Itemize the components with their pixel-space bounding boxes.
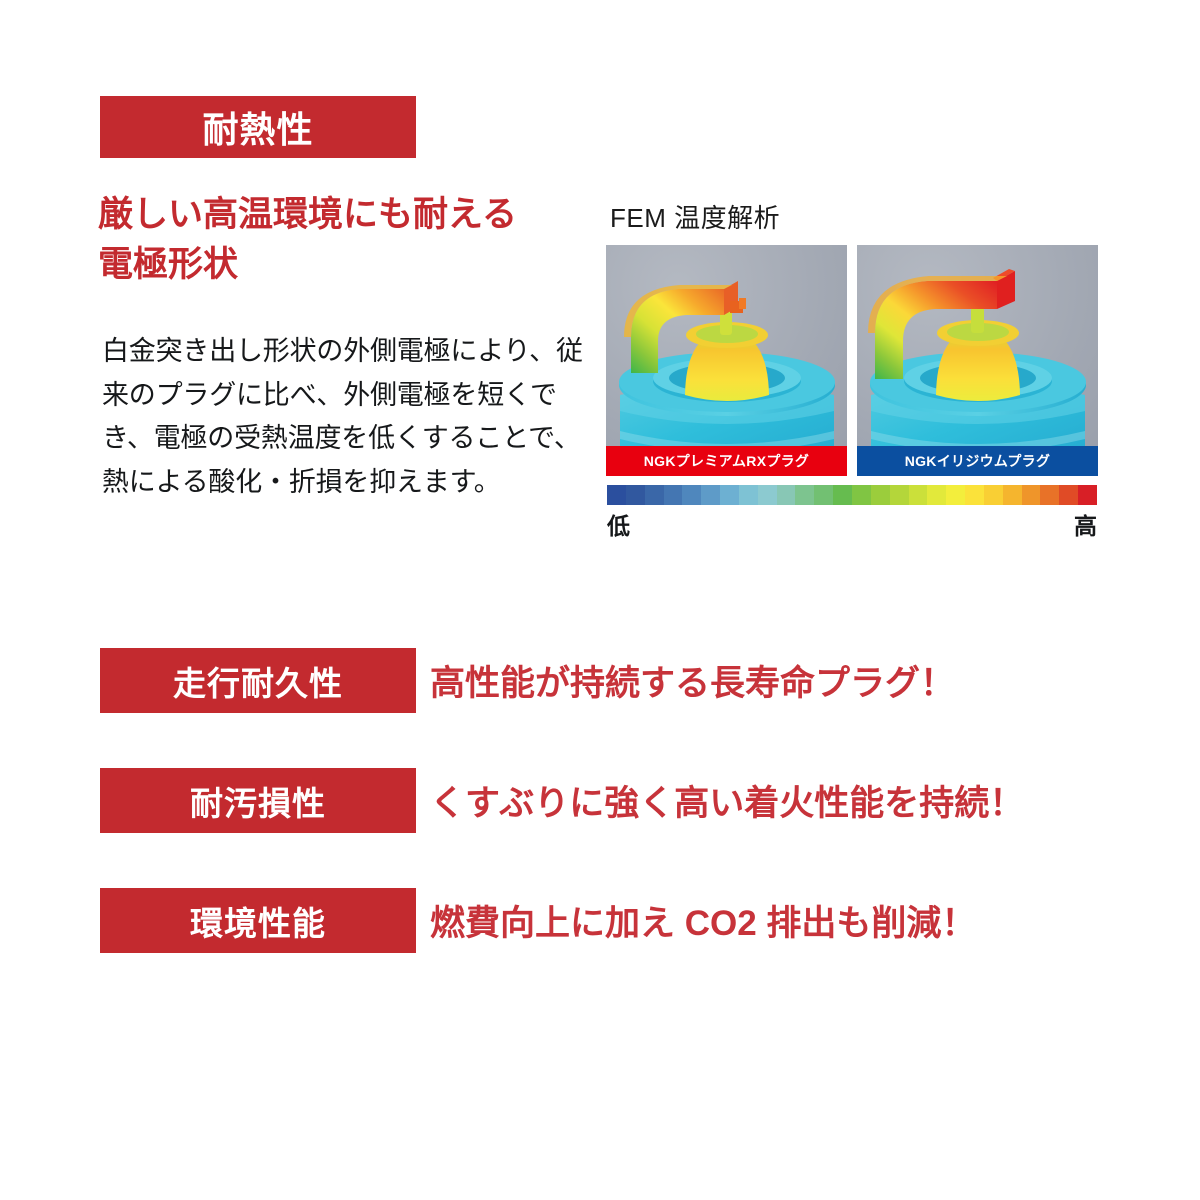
scale-swatch-20 — [984, 485, 1003, 505]
fem-panel-caption-iridium: NGKイリジウムプラグ — [857, 446, 1098, 476]
feature-row-environmental: 環境性能 燃費向上に加え CO2 排出も削減！ — [0, 880, 1200, 1000]
feature-text-environmental: 燃費向上に加え CO2 排出も削減！ — [430, 888, 976, 953]
scale-swatch-23 — [1040, 485, 1059, 505]
scale-swatch-14 — [871, 485, 890, 505]
spark-plug-thermal-render-rx — [606, 245, 847, 476]
temperature-color-scale — [607, 485, 1097, 505]
scale-label-low: 低 — [607, 507, 630, 541]
fem-panel-iridium: NGKイリジウムプラグ — [857, 245, 1098, 476]
feature-badge-durability: 走行耐久性 — [100, 648, 416, 713]
section-badge-heat-resistance: 耐熱性 — [100, 96, 416, 158]
fem-analysis-block: FEM 温度解析 — [606, 198, 1098, 541]
scale-swatch-10 — [795, 485, 814, 505]
scale-swatch-0 — [607, 485, 626, 505]
scale-swatch-4 — [682, 485, 701, 505]
scale-swatch-11 — [814, 485, 833, 505]
scale-swatch-24 — [1059, 485, 1078, 505]
body-copy: 白金突き出し形状の外側電極により、従来のプラグに比べ、外側電極を短くでき、電極の… — [102, 330, 590, 505]
scale-swatch-9 — [777, 485, 796, 505]
fem-panel-caption-premium-rx: NGKプレミアムRXプラグ — [606, 446, 847, 476]
scale-swatch-2 — [645, 485, 664, 505]
scale-swatch-8 — [758, 485, 777, 505]
feature-list: 走行耐久性 高性能が持続する長寿命プラグ！ 耐汚損性 くすぶりに強く高い着火性能… — [0, 640, 1200, 1000]
scale-swatch-18 — [946, 485, 965, 505]
lead-heading-line-2: 電極形状 — [98, 240, 598, 290]
fem-panel-group: NGKプレミアムRXプラグ — [606, 245, 1098, 476]
scale-swatch-22 — [1022, 485, 1041, 505]
feature-text-durability: 高性能が持続する長寿命プラグ！ — [430, 648, 955, 713]
scale-swatch-3 — [664, 485, 683, 505]
scale-swatch-25 — [1078, 485, 1097, 505]
lead-heading: 厳しい高温環境にも耐える 電極形状 — [98, 190, 598, 289]
lead-heading-line-1: 厳しい高温環境にも耐える — [98, 190, 598, 240]
feature-row-durability: 走行耐久性 高性能が持続する長寿命プラグ！ — [0, 640, 1200, 760]
heat-resistance-section: 耐熱性 厳しい高温環境にも耐える 電極形状 白金突き出し形状の外側電極により、従… — [0, 0, 1200, 600]
feature-text-fouling-resistance: くすぶりに強く高い着火性能を持続！ — [430, 768, 1024, 833]
scale-swatch-7 — [739, 485, 758, 505]
scale-swatch-19 — [965, 485, 984, 505]
scale-swatch-13 — [852, 485, 871, 505]
fem-title: FEM 温度解析 — [610, 198, 1098, 235]
scale-swatch-5 — [701, 485, 720, 505]
spark-plug-thermal-render-iridium — [857, 245, 1098, 476]
scale-swatch-15 — [890, 485, 909, 505]
fem-panel-premium-rx: NGKプレミアムRXプラグ — [606, 245, 847, 476]
scale-label-high: 高 — [1074, 507, 1097, 541]
temperature-scale-labels: 低 高 — [607, 507, 1097, 541]
scale-swatch-1 — [626, 485, 645, 505]
scale-swatch-16 — [909, 485, 928, 505]
scale-swatch-17 — [927, 485, 946, 505]
scale-swatch-21 — [1003, 485, 1022, 505]
feature-badge-fouling-resistance: 耐汚損性 — [100, 768, 416, 833]
scale-swatch-6 — [720, 485, 739, 505]
scale-swatch-12 — [833, 485, 852, 505]
feature-row-fouling-resistance: 耐汚損性 くすぶりに強く高い着火性能を持続！ — [0, 760, 1200, 880]
feature-badge-environmental: 環境性能 — [100, 888, 416, 953]
